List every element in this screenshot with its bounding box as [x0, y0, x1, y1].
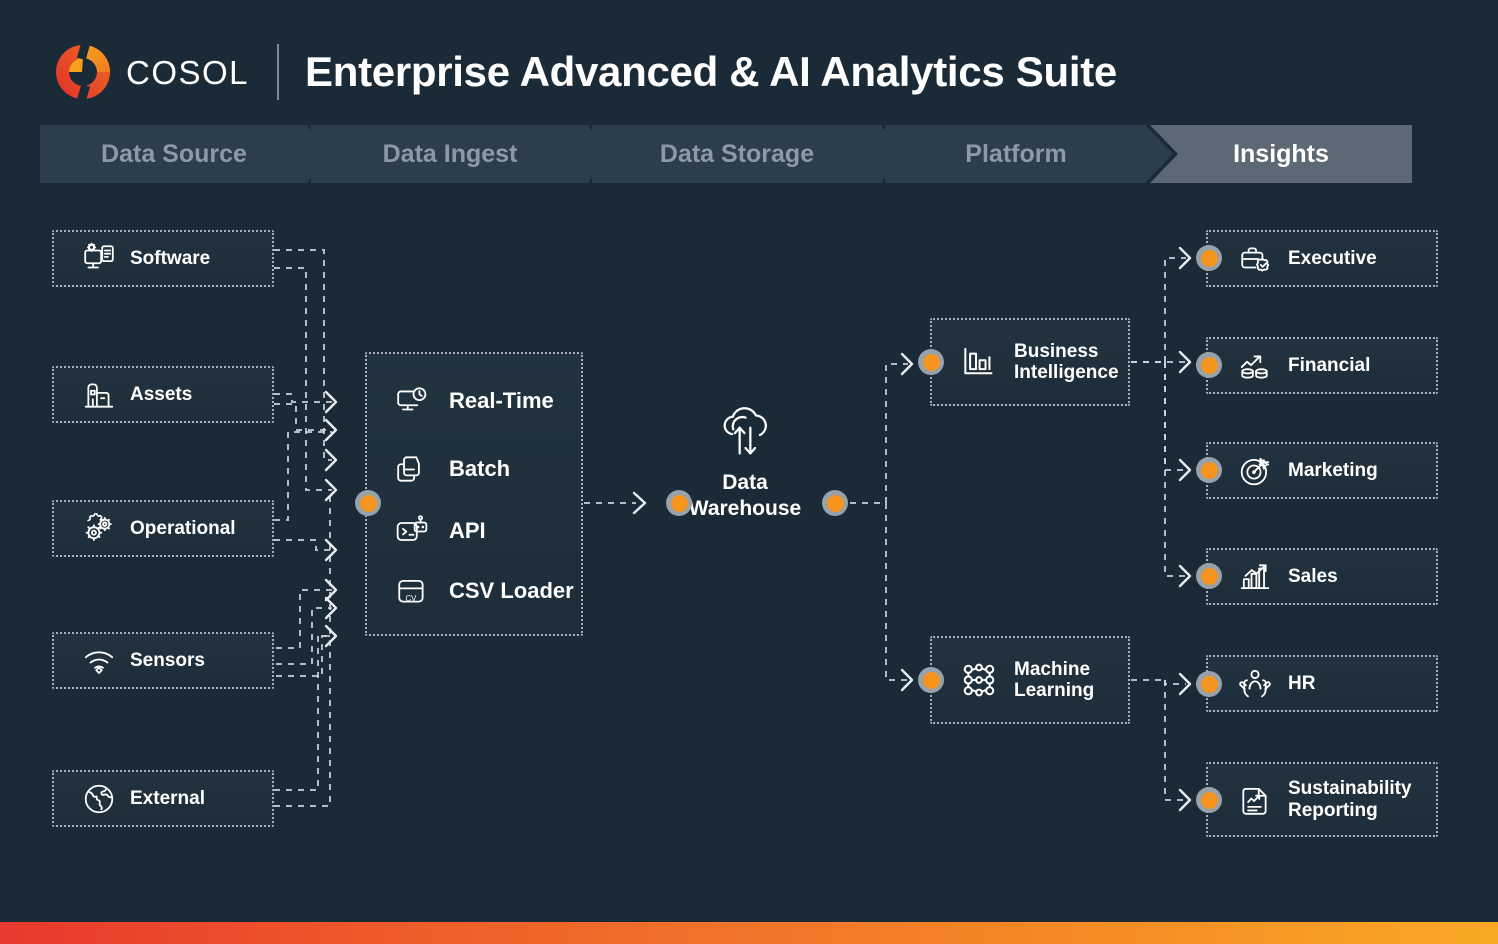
- terminal-robot-icon: [395, 514, 429, 548]
- platform-node-business-intelligence[interactable]: BusinessIntelligence: [930, 318, 1130, 406]
- data-source-node-operational[interactable]: Operational: [52, 500, 274, 557]
- data-ingest-label: Batch: [449, 456, 510, 482]
- connector-dot-sustainability-reporting: [1196, 787, 1222, 813]
- chevron-right-icon: [1145, 125, 1175, 183]
- insight-node-sustainability-reporting[interactable]: SustainabilityReporting: [1206, 762, 1438, 837]
- neural-network-icon: [960, 661, 998, 699]
- connector-dot-sales: [1196, 563, 1222, 589]
- gears-icon: [82, 512, 116, 546]
- insight-node-hr[interactable]: HR: [1206, 655, 1438, 712]
- connector-dot-financial: [1196, 352, 1222, 378]
- data-source-label: Software: [130, 248, 210, 269]
- connector-dot-executive: [1196, 245, 1222, 271]
- nav-stage-label: Data Source: [101, 140, 247, 169]
- data-ingest-label: API: [449, 518, 486, 544]
- chevron-right-icon: [587, 125, 617, 183]
- insight-label-line1: Executive: [1288, 248, 1377, 269]
- insight-node-sales[interactable]: Sales: [1206, 548, 1438, 605]
- connector-dot-ingest: [355, 490, 381, 516]
- wifi-signal-icon: [82, 644, 116, 678]
- cloud-sync-icon: [660, 404, 830, 460]
- nav-stage-data-ingest[interactable]: Data Ingest: [311, 125, 589, 183]
- data-source-label: Sensors: [130, 650, 205, 671]
- finance-growth-icon: [1238, 349, 1272, 383]
- svg-text:CV: CV: [405, 594, 417, 603]
- nav-stage-insights[interactable]: Insights: [1150, 125, 1412, 183]
- data-source-node-software[interactable]: Software: [52, 230, 274, 287]
- data-source-node-external[interactable]: External: [52, 770, 274, 827]
- data-ingest-item-csv-loader[interactable]: CVCSV Loader: [395, 574, 574, 608]
- platform-node-machine-learning[interactable]: MachineLearning: [930, 636, 1130, 724]
- insight-label-line2: Reporting: [1288, 800, 1412, 821]
- insight-node-financial[interactable]: Financial: [1206, 337, 1438, 394]
- page-title: Enterprise Advanced & AI Analytics Suite: [305, 48, 1117, 96]
- report-document-icon: [1238, 783, 1272, 817]
- hands-person-icon: [1238, 667, 1272, 701]
- brand-name: COSOL: [126, 56, 249, 89]
- data-source-label: Operational: [130, 518, 236, 539]
- connector-dot-warehouse-out: [822, 490, 848, 516]
- data-source-label: External: [130, 788, 205, 809]
- factory-building-icon: [82, 378, 116, 412]
- data-ingest-item-batch[interactable]: Batch: [395, 452, 510, 486]
- connector-dot-hr: [1196, 671, 1222, 697]
- data-ingest-group: Real-TimeBatchAPICVCSV Loader: [365, 352, 583, 636]
- data-ingest-label: CSV Loader: [449, 578, 574, 604]
- nav-stage-label: Data Storage: [660, 140, 814, 169]
- insight-label-line1: Sales: [1288, 566, 1338, 587]
- cosol-ring-logo-icon: [52, 41, 114, 103]
- nav-stage-data-source[interactable]: Data Source: [40, 125, 308, 183]
- data-source-node-assets[interactable]: Assets: [52, 366, 274, 423]
- bar-chart-icon: [960, 343, 998, 381]
- data-ingest-label: Real-Time: [449, 388, 554, 414]
- csv-file-icon: CV: [395, 574, 429, 608]
- insight-label-line1: HR: [1288, 673, 1315, 694]
- page-header: COSOL Enterprise Advanced & AI Analytics…: [52, 30, 1117, 114]
- globe-icon: [82, 782, 116, 816]
- insight-node-marketing[interactable]: Marketing: [1206, 442, 1438, 499]
- nav-stage-label: Platform: [965, 140, 1066, 169]
- nav-stage-label: Insights: [1233, 140, 1329, 169]
- footer-accent-bar: [0, 922, 1498, 944]
- briefcase-check-icon: [1238, 242, 1272, 276]
- diagram-canvas: COSOL Enterprise Advanced & AI Analytics…: [0, 0, 1498, 944]
- target-dart-icon: [1238, 454, 1272, 488]
- platform-label-line1: Business: [1014, 341, 1119, 362]
- platform-label-line2: Intelligence: [1014, 362, 1119, 383]
- connector-dot-warehouse-in: [666, 490, 692, 516]
- data-ingest-item-api[interactable]: API: [395, 514, 486, 548]
- nav-stage-label: Data Ingest: [383, 140, 518, 169]
- connector-dot-machine-learning: [918, 667, 944, 693]
- data-source-label: Assets: [130, 384, 192, 405]
- connector-dot-marketing: [1196, 457, 1222, 483]
- sales-chart-arrow-icon: [1238, 560, 1272, 594]
- platform-label-line2: Learning: [1014, 680, 1094, 701]
- insight-label-line1: Marketing: [1288, 460, 1378, 481]
- insight-label-line1: Sustainability: [1288, 778, 1412, 799]
- pipeline-breadcrumb: Data SourceData IngestData StoragePlatfo…: [40, 125, 1415, 183]
- stacked-files-icon: [395, 452, 429, 486]
- insight-node-executive[interactable]: Executive: [1206, 230, 1438, 287]
- header-divider: [277, 44, 279, 100]
- monitor-clock-icon: [395, 384, 429, 418]
- insight-label-line1: Financial: [1288, 355, 1370, 376]
- monitor-settings-icon: [82, 242, 116, 276]
- connector-dot-business-intelligence: [918, 349, 944, 375]
- nav-stage-platform[interactable]: Platform: [885, 125, 1147, 183]
- data-ingest-item-real-time[interactable]: Real-Time: [395, 384, 554, 418]
- platform-label-line1: Machine: [1014, 659, 1094, 680]
- data-source-node-sensors[interactable]: Sensors: [52, 632, 274, 689]
- chevron-right-icon: [306, 125, 336, 183]
- chevron-right-icon: [880, 125, 910, 183]
- nav-stage-data-storage[interactable]: Data Storage: [592, 125, 882, 183]
